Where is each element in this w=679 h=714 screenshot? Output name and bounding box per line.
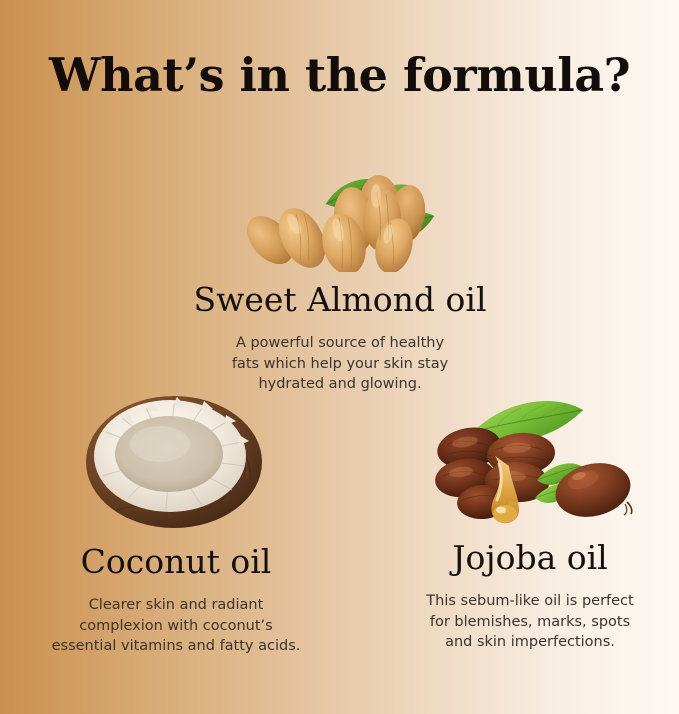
- ingredient-card-jojoba-oil: Jojoba oil This sebum-like oil is perfec…: [385, 398, 675, 653]
- description-line: Clearer skin and radiant: [8, 595, 344, 616]
- description-line: fats which help your skin stay: [165, 354, 515, 375]
- ingredient-description-sweet-almond-oil: A powerful source of healthy fats which …: [165, 333, 515, 395]
- description-line: and skin imperfections.: [385, 632, 675, 653]
- description-line: This sebum-like oil is perfect: [385, 591, 675, 612]
- ingredient-name-jojoba-oil: Jojoba oil: [385, 538, 675, 577]
- almonds-with-leaves-image: [165, 160, 515, 272]
- description-line: A powerful source of healthy: [165, 333, 515, 354]
- formula-ingredients-infographic: What’s in the formula?: [0, 0, 679, 714]
- description-line: for blemishes, marks, spots: [385, 612, 675, 633]
- halved-coconut-image: [8, 388, 344, 532]
- ingredient-name-coconut-oil: Coconut oil: [8, 542, 344, 581]
- ingredient-name-sweet-almond-oil: Sweet Almond oil: [165, 280, 515, 319]
- ingredient-card-sweet-almond-oil: Sweet Almond oil A powerful source of he…: [165, 160, 515, 395]
- description-line: essential vitamins and fatty acids.: [8, 636, 344, 657]
- description-line: complexion with coconut’s: [8, 616, 344, 637]
- ingredient-description-jojoba-oil: This sebum-like oil is perfect for blemi…: [385, 591, 675, 653]
- ingredient-description-coconut-oil: Clearer skin and radiant complexion with…: [8, 595, 344, 657]
- ingredient-card-coconut-oil: Coconut oil Clearer skin and radiant com…: [8, 388, 344, 657]
- jojoba-seeds-with-leaves-image: [385, 398, 675, 532]
- page-title: What’s in the formula?: [0, 48, 679, 102]
